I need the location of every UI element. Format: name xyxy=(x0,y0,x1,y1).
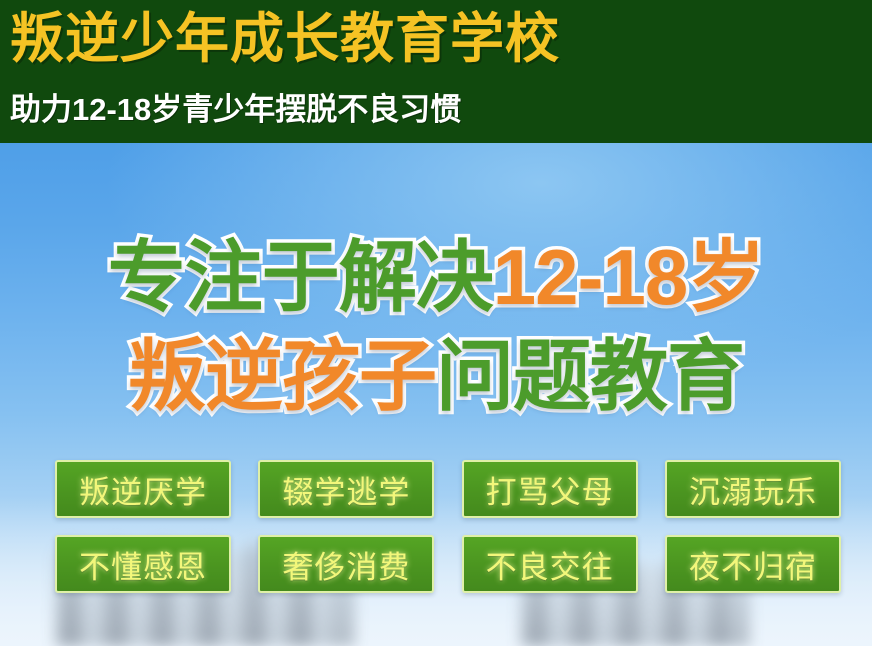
tag-row-2: 不懂感恩 奢侈消费 不良交往 夜不归宿 xyxy=(55,535,841,593)
tag-row-1: 叛逆厌学 辍学逃学 打骂父母 沉溺玩乐 xyxy=(55,460,841,518)
school-name-title: 叛逆少年成长教育学校 xyxy=(10,4,560,74)
tag-item[interactable]: 不良交往 xyxy=(462,535,638,593)
tag-item[interactable]: 奢侈消费 xyxy=(258,535,434,593)
tag-item[interactable]: 叛逆厌学 xyxy=(55,460,231,518)
tag-item[interactable]: 辍学逃学 xyxy=(258,460,434,518)
tag-item[interactable]: 沉溺玩乐 xyxy=(665,460,841,518)
headline-line-2: 叛逆孩子问题教育 xyxy=(0,337,872,415)
tag-item[interactable]: 不懂感恩 xyxy=(55,535,231,593)
headline-line-1: 专注于解决12-18岁 xyxy=(0,238,872,316)
headline-line2-green-text: 问题教育 xyxy=(436,337,744,415)
tag-item[interactable]: 打骂父母 xyxy=(462,460,638,518)
problem-tag-grid: 叛逆厌学 辍学逃学 打骂父母 沉溺玩乐 不懂感恩 奢侈消费 不良交往 夜不归宿 xyxy=(55,460,841,610)
headline-line1-green-text: 专注于解决 xyxy=(108,238,493,316)
tag-item[interactable]: 夜不归宿 xyxy=(665,535,841,593)
header-bar: 叛逆少年成长教育学校 助力12-18岁青少年摆脱不良习惯 xyxy=(0,0,872,143)
headline-line2-orange-text: 叛逆孩子 xyxy=(128,337,436,415)
headline-line1-orange-text: 12-18岁 xyxy=(493,238,765,316)
header-subtitle: 助力12-18岁青少年摆脱不良习惯 xyxy=(10,90,461,130)
promo-banner: 叛逆少年成长教育学校 助力12-18岁青少年摆脱不良习惯 xyxy=(0,0,872,646)
